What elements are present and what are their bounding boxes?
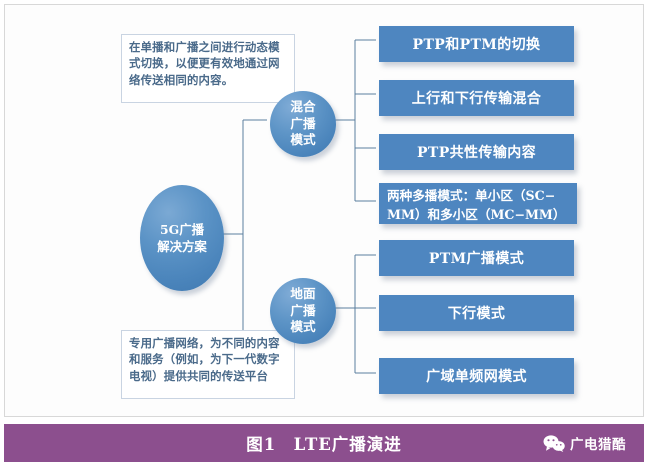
figure-footer-bar: 图1 LTE广播演进 广电猎酷 <box>4 424 644 462</box>
brand-watermark[interactable]: 广电猎酷 <box>543 424 626 462</box>
leaf-uplink-downlink-mix[interactable]: 上行和下行传输混合 <box>379 80 574 116</box>
leaf-ptp-ptm-switching[interactable]: PTP和PTM的切换 <box>379 26 574 62</box>
node-terrestrial-line-2: 广播 <box>290 303 315 319</box>
node-terrestrial-line-3: 模式 <box>290 319 315 335</box>
node-hybrid-line-1: 混合 <box>290 99 315 115</box>
annotation-hybrid-note: 在单播和广播之间进行动态模式切换，以便更有效地通过网络传送相同的内容。 <box>121 34 295 103</box>
leaf-wide-area-sfn-mode[interactable]: 广域单频网模式 <box>379 358 574 394</box>
node-hybrid-line-3: 模式 <box>290 132 315 148</box>
leaf-ptp-common-content[interactable]: PTP共性传输内容 <box>379 134 574 170</box>
figure-page: 在单播和广播之间进行动态模式切换，以便更有效地通过网络传送相同的内容。 专用广播… <box>0 0 648 465</box>
leaf-downlink-mode[interactable]: 下行模式 <box>379 295 574 331</box>
diagram-canvas: 在单播和广播之间进行动态模式切换，以便更有效地通过网络传送相同的内容。 专用广播… <box>4 4 644 417</box>
brand-label: 广电猎酷 <box>570 433 626 453</box>
leaf-ptm-broadcast-mode[interactable]: PTM广播模式 <box>379 240 574 276</box>
node-terrestrial-broadcast-mode[interactable]: 地面 广播 模式 <box>270 278 336 344</box>
node-hybrid-broadcast-mode[interactable]: 混合 广播 模式 <box>270 91 336 157</box>
leaf-two-multicast-modes-line-2: MM）和多小区（MC−MM） <box>387 207 565 222</box>
wechat-icon <box>543 435 565 452</box>
node-root-5g-broadcast[interactable]: 5G广播 解决方案 <box>140 185 224 291</box>
annotation-terrestrial-note: 专用广播网络，为不同的内容和服务（例如，为下一代数字电视）提供共同的传送平台 <box>121 330 295 399</box>
node-root-line-1: 5G广播 <box>157 221 207 238</box>
node-terrestrial-line-1: 地面 <box>290 286 315 302</box>
leaf-two-multicast-modes[interactable]: 两种多播模式：单小区（SC− MM）和多小区（MC−MM） <box>379 183 577 224</box>
node-hybrid-line-2: 广播 <box>290 116 315 132</box>
leaf-two-multicast-modes-line-1: 两种多播模式：单小区（SC− <box>387 188 555 203</box>
node-root-line-2: 解决方案 <box>157 238 207 255</box>
